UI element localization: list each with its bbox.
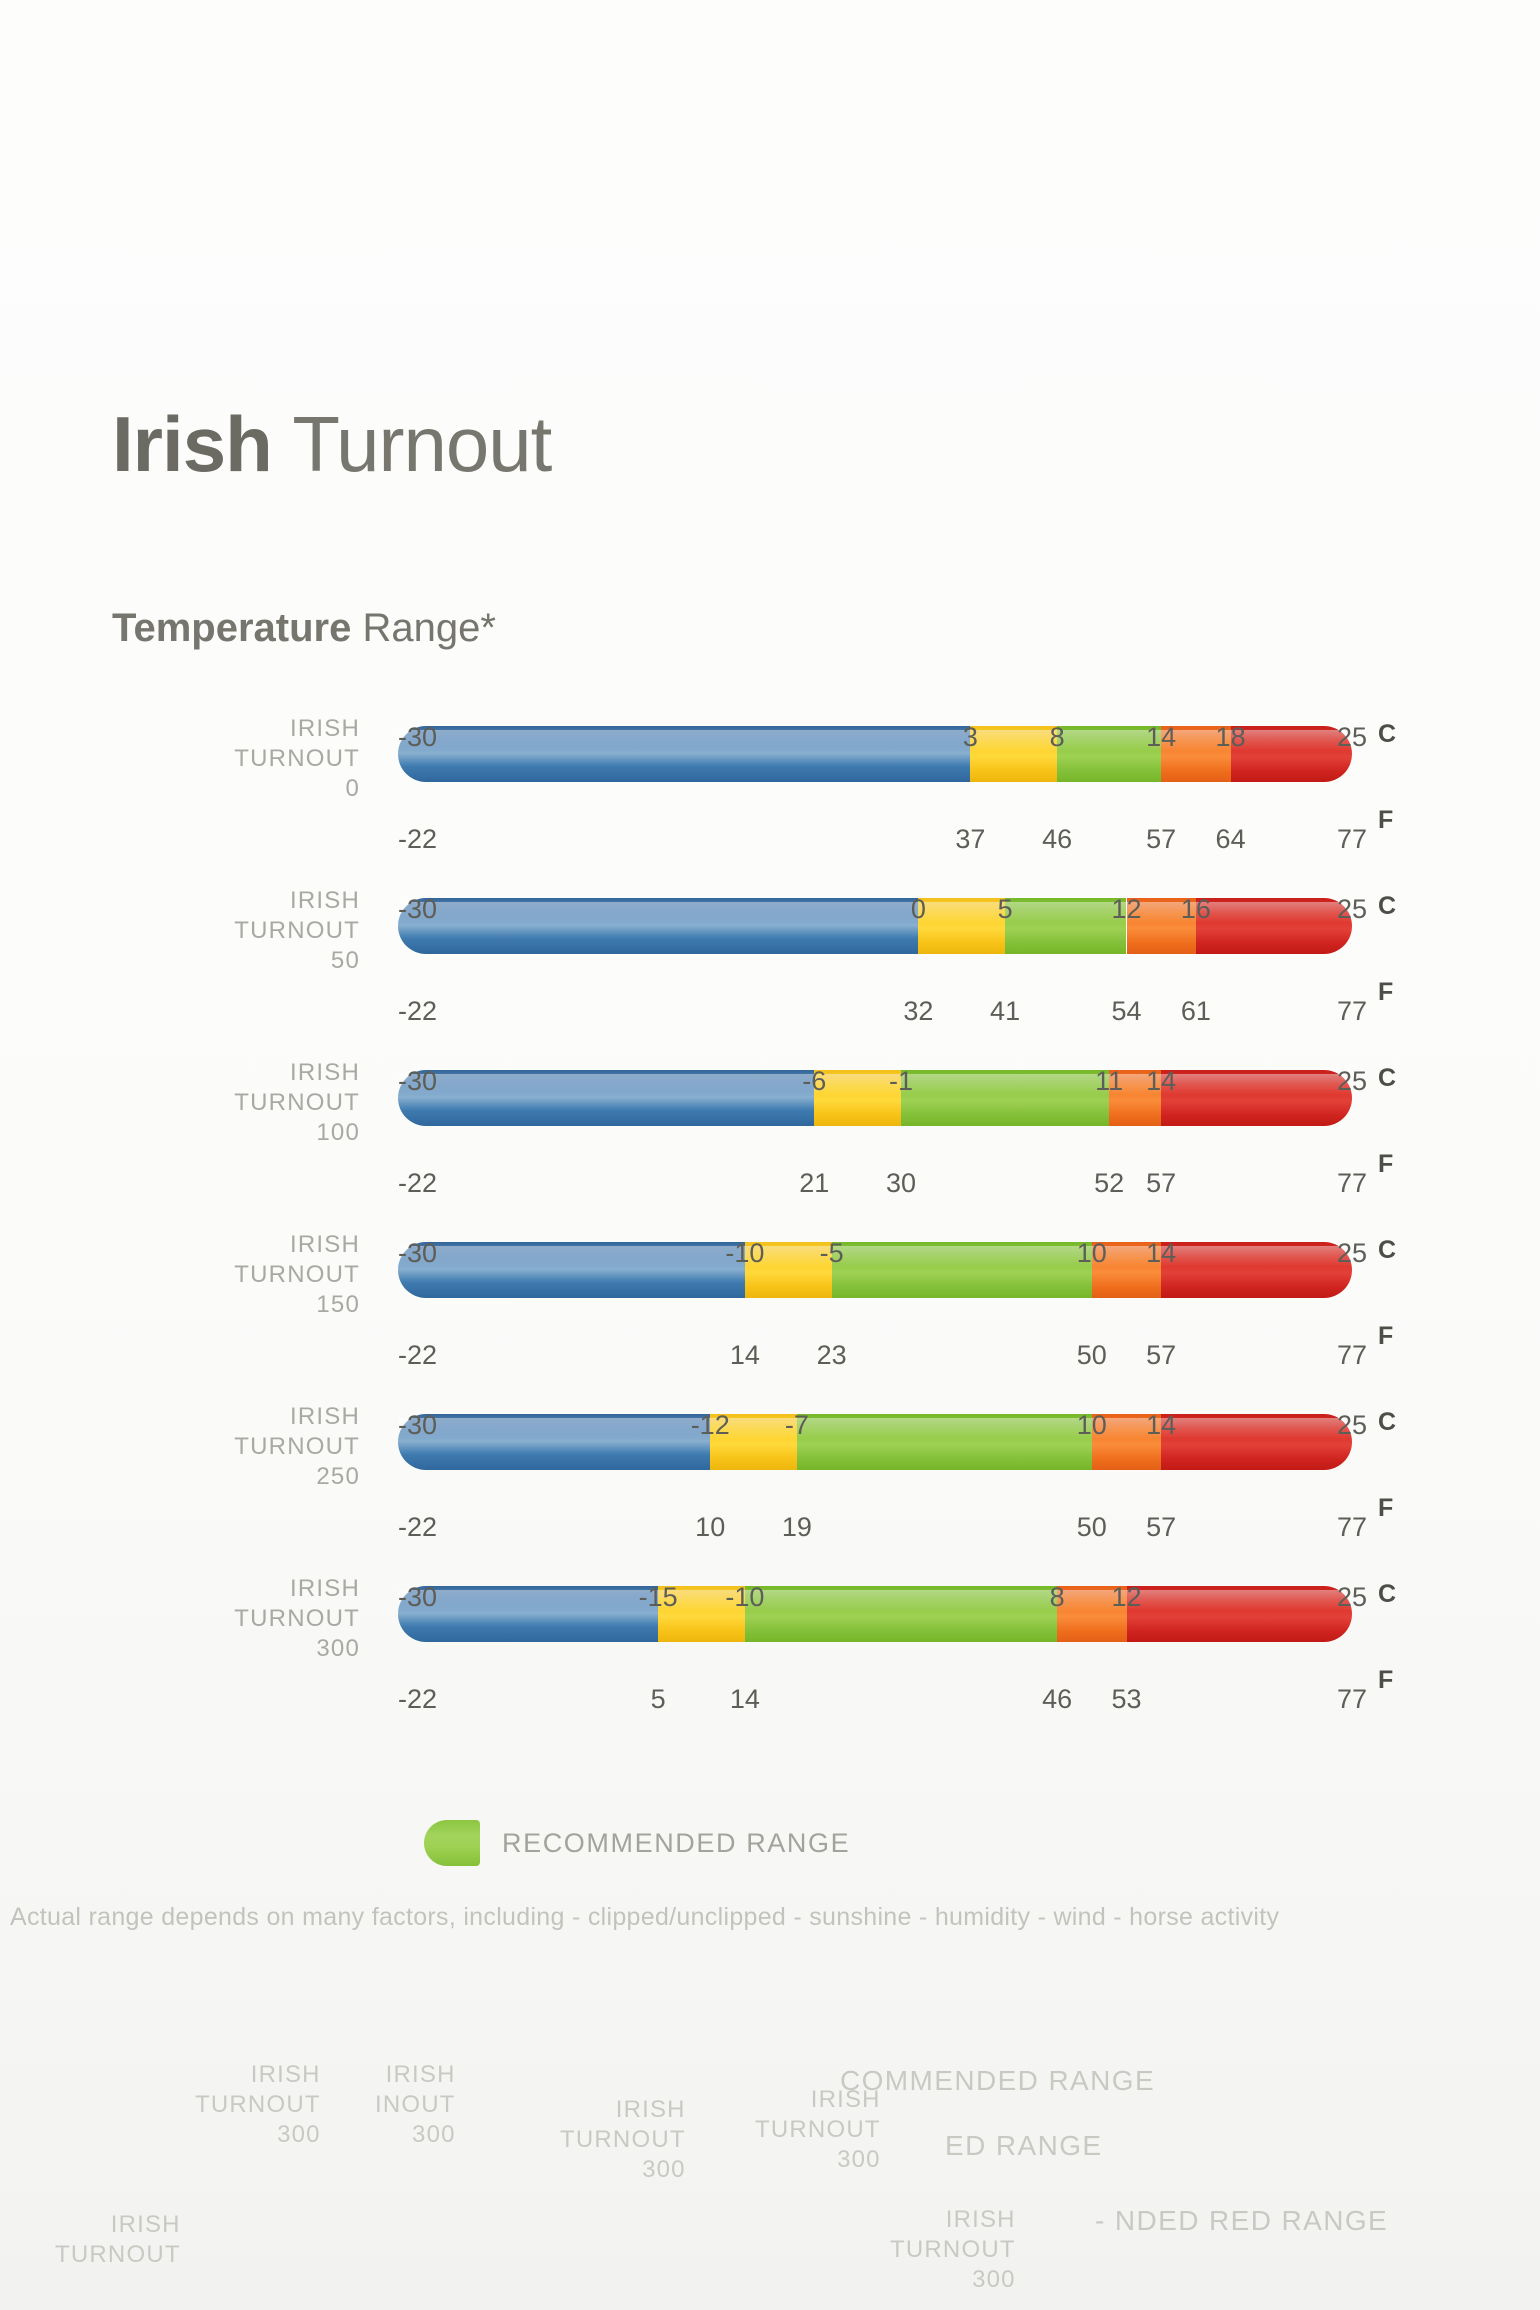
row-label-line: IRISH: [140, 1058, 360, 1088]
unit-marker-fahrenheit: F: [1378, 1666, 1393, 1695]
bar-segment-red: [1161, 1242, 1352, 1298]
recommended-range-swatch-icon: [424, 1820, 480, 1866]
ghost-product-line: TURNOUT: [890, 2235, 1016, 2265]
tick-fahrenheit: 53: [1111, 1684, 1141, 1715]
tick-fahrenheit: 77: [1337, 1340, 1367, 1371]
tick-fahrenheit: -22: [398, 1512, 437, 1543]
segment-highlight: [901, 1074, 1109, 1094]
bar-segment-red: [1196, 898, 1352, 954]
ghost-range-text: ED RANGE: [945, 2130, 1102, 2162]
temperature-bar-track: -30-10-5101425-221423505777: [398, 1242, 1352, 1298]
subtitle-bold-word: Temperature: [112, 606, 351, 650]
segment-highlight: [1005, 902, 1126, 922]
tick-celsius: 16: [1181, 894, 1211, 925]
segment-highlight: [918, 902, 1005, 922]
bar-segment-green: [745, 1586, 1057, 1642]
temperature-bar-track: -3005121625-223241546177: [398, 898, 1352, 954]
ghost-product-line: TURNOUT: [560, 2125, 686, 2155]
tick-celsius: 25: [1337, 1410, 1367, 1441]
segment-highlight: [1161, 1418, 1352, 1438]
row-label: IRISHTURNOUT100: [140, 1058, 360, 1148]
unit-marker-celsius: C: [1378, 1236, 1396, 1265]
tick-celsius: -12: [691, 1410, 730, 1441]
tick-fahrenheit: 32: [903, 996, 933, 1027]
row-label-line: 250: [140, 1462, 360, 1492]
ghost-range-text: - NDED RED RANGE: [1095, 2205, 1388, 2237]
tick-fahrenheit: 30: [886, 1168, 916, 1199]
segment-highlight: [1127, 1590, 1352, 1610]
bar-row: IRISHTURNOUT100-30-6-1111425-22213052577…: [0, 1034, 1540, 1206]
tick-fahrenheit: -22: [398, 824, 437, 855]
tick-celsius: 10: [1077, 1410, 1107, 1441]
tick-celsius: 18: [1216, 722, 1246, 753]
tick-celsius: 25: [1337, 894, 1367, 925]
tick-fahrenheit: 57: [1146, 1168, 1176, 1199]
page-title: Irish Turnout: [112, 405, 551, 483]
title-bold-word: Irish: [112, 400, 272, 488]
ghost-product-line: IRISH: [195, 2060, 321, 2090]
unit-marker-celsius: C: [1378, 892, 1396, 921]
bar-segment-blue: [398, 726, 970, 782]
row-label-line: TURNOUT: [140, 1260, 360, 1290]
tick-celsius: 10: [1077, 1238, 1107, 1269]
tick-fahrenheit: 10: [695, 1512, 725, 1543]
ghost-product-line: 300: [375, 2120, 456, 2150]
tick-fahrenheit: 54: [1111, 996, 1141, 1027]
tick-celsius: 25: [1337, 1238, 1367, 1269]
segment-highlight: [1231, 730, 1352, 750]
row-label: IRISHTURNOUT50: [140, 886, 360, 976]
bar-row: IRISHTURNOUT300-30-15-1081225-2251446537…: [0, 1550, 1540, 1722]
ghost-range-text: COMMENDED RANGE: [840, 2065, 1155, 2097]
tick-celsius: 14: [1146, 722, 1176, 753]
tick-celsius: -7: [785, 1410, 809, 1441]
segment-highlight: [398, 902, 918, 922]
ghost-product-line: IRISH: [375, 2060, 456, 2090]
bar-segment-yellow: [918, 898, 1005, 954]
ghost-product-mark: IRISHTURNOUT300: [890, 2205, 1016, 2295]
tick-celsius: -30: [398, 1066, 437, 1097]
title-light-word: Turnout: [292, 400, 551, 488]
row-label-line: 300: [140, 1634, 360, 1664]
tick-celsius: 3: [963, 722, 978, 753]
unit-marker-celsius: C: [1378, 1580, 1396, 1609]
bar-segment-green: [1005, 898, 1126, 954]
tick-celsius: -30: [398, 1582, 437, 1613]
tick-fahrenheit: 46: [1042, 1684, 1072, 1715]
row-label-line: 100: [140, 1118, 360, 1148]
temperature-range-chart: IRISHTURNOUT0-3038141825-223746576477CFI…: [0, 690, 1540, 1722]
row-label-line: IRISH: [140, 886, 360, 916]
tick-celsius: -10: [725, 1238, 764, 1269]
segment-highlight: [1196, 902, 1352, 922]
tick-fahrenheit: 50: [1077, 1512, 1107, 1543]
legend: RECOMMENDED RANGE: [424, 1820, 850, 1866]
ghost-product-line: 300: [755, 2145, 881, 2175]
bar-segment-blue: [398, 1070, 814, 1126]
bar-row: IRISHTURNOUT0-3038141825-223746576477CF: [0, 690, 1540, 862]
tick-fahrenheit: 5: [651, 1684, 666, 1715]
bar-row: IRISHTURNOUT150-30-10-5101425-2214235057…: [0, 1206, 1540, 1378]
tick-celsius: 11: [1095, 1066, 1123, 1097]
tick-fahrenheit: 41: [990, 996, 1020, 1027]
segment-highlight: [1161, 1074, 1352, 1094]
row-label-line: IRISH: [140, 1402, 360, 1432]
row-label-line: 0: [140, 774, 360, 804]
row-label-line: 150: [140, 1290, 360, 1320]
tick-celsius: 25: [1337, 722, 1367, 753]
tick-celsius: 5: [998, 894, 1013, 925]
temperature-bar-track: -30-6-1111425-222130525777: [398, 1070, 1352, 1126]
tick-fahrenheit: 61: [1181, 996, 1211, 1027]
ghost-product-line: 300: [195, 2120, 321, 2150]
ghost-product-line: TURNOUT: [195, 2090, 321, 2120]
ghost-product-line: 300: [560, 2155, 686, 2185]
tick-fahrenheit: 14: [730, 1684, 760, 1715]
segment-highlight: [814, 1074, 901, 1094]
segment-highlight: [970, 730, 1057, 750]
ghost-product-line: 300: [890, 2265, 1016, 2295]
segment-highlight: [745, 1590, 1057, 1610]
tick-fahrenheit: 77: [1337, 996, 1367, 1027]
tick-fahrenheit: -22: [398, 1340, 437, 1371]
segment-highlight: [398, 730, 970, 750]
tick-fahrenheit: -22: [398, 996, 437, 1027]
tick-fahrenheit: 77: [1337, 824, 1367, 855]
subtitle-light-word: Range*: [362, 606, 495, 650]
ghost-product-line: INOUT: [375, 2090, 456, 2120]
tick-celsius: -30: [398, 1238, 437, 1269]
tick-fahrenheit: 19: [782, 1512, 812, 1543]
row-label: IRISHTURNOUT250: [140, 1402, 360, 1492]
row-label-line: IRISH: [140, 1230, 360, 1260]
tick-fahrenheit: -22: [398, 1684, 437, 1715]
tick-fahrenheit: 57: [1146, 824, 1176, 855]
tick-celsius: 8: [1050, 1582, 1065, 1613]
tick-celsius: 25: [1337, 1066, 1367, 1097]
tick-celsius: 14: [1146, 1066, 1176, 1097]
segment-highlight: [832, 1246, 1092, 1266]
tick-fahrenheit: 37: [955, 824, 985, 855]
bar-row: IRISHTURNOUT50-3005121625-223241546177CF: [0, 862, 1540, 1034]
ghost-product-mark: IRISHTURNOUT300: [755, 2085, 881, 2175]
page-subtitle: Temperature Range*: [112, 608, 496, 648]
tick-fahrenheit: 57: [1146, 1512, 1176, 1543]
tick-celsius: 12: [1111, 1582, 1141, 1613]
segment-highlight: [1161, 1246, 1352, 1266]
bar-segment-blue: [398, 1242, 745, 1298]
row-label-line: IRISH: [140, 714, 360, 744]
unit-marker-celsius: C: [1378, 720, 1396, 749]
title-block: Irish Turnout: [112, 405, 551, 483]
tick-fahrenheit: 64: [1216, 824, 1246, 855]
row-label-line: TURNOUT: [140, 1088, 360, 1118]
row-label-line: TURNOUT: [140, 744, 360, 774]
row-label-line: 50: [140, 946, 360, 976]
bar-segment-yellow: [970, 726, 1057, 782]
tick-fahrenheit: 46: [1042, 824, 1072, 855]
bar-segment-red: [1161, 1070, 1352, 1126]
unit-marker-fahrenheit: F: [1378, 1150, 1393, 1179]
bar-segment-red: [1127, 1586, 1352, 1642]
row-label-line: TURNOUT: [140, 916, 360, 946]
ghost-product-line: IRISH: [560, 2095, 686, 2125]
ghost-product-mark: IRISHTURNOUT: [55, 2210, 181, 2270]
unit-marker-fahrenheit: F: [1378, 1322, 1393, 1351]
tick-celsius: -1: [889, 1066, 913, 1097]
ghost-product-mark: IRISHINOUT300: [375, 2060, 456, 2150]
ghost-product-line: IRISH: [55, 2210, 181, 2240]
temperature-bar-track: -30-15-1081225-22514465377: [398, 1586, 1352, 1642]
row-label-line: IRISH: [140, 1574, 360, 1604]
tick-fahrenheit: 50: [1077, 1340, 1107, 1371]
bar-segment-green: [901, 1070, 1109, 1126]
tick-celsius: 12: [1111, 894, 1141, 925]
tick-fahrenheit: -22: [398, 1168, 437, 1199]
row-label: IRISHTURNOUT300: [140, 1574, 360, 1664]
unit-marker-celsius: C: [1378, 1408, 1396, 1437]
ghost-product-line: IRISH: [890, 2205, 1016, 2235]
row-label: IRISHTURNOUT0: [140, 714, 360, 804]
unit-marker-fahrenheit: F: [1378, 978, 1393, 1007]
tick-fahrenheit: 77: [1337, 1512, 1367, 1543]
tick-celsius: 14: [1146, 1410, 1176, 1441]
ghost-product-line: TURNOUT: [755, 2115, 881, 2145]
bar-segment-red: [1231, 726, 1352, 782]
row-label: IRISHTURNOUT150: [140, 1230, 360, 1320]
unit-marker-fahrenheit: F: [1378, 806, 1393, 835]
unit-marker-celsius: C: [1378, 1064, 1396, 1093]
tick-celsius: -30: [398, 722, 437, 753]
bar-segment-blue: [398, 1414, 710, 1470]
tick-fahrenheit: 52: [1094, 1168, 1124, 1199]
row-label-line: TURNOUT: [140, 1432, 360, 1462]
segment-highlight: [398, 1418, 710, 1438]
tick-celsius: -6: [802, 1066, 826, 1097]
temperature-bar-track: -30-12-7101425-221019505777: [398, 1414, 1352, 1470]
temperature-bar-track: -3038141825-223746576477: [398, 726, 1352, 782]
tick-celsius: 25: [1337, 1582, 1367, 1613]
bar-segment-green: [797, 1414, 1092, 1470]
legend-label: RECOMMENDED RANGE: [502, 1828, 850, 1859]
segment-highlight: [398, 1074, 814, 1094]
bar-segment-red: [1161, 1414, 1352, 1470]
tick-fahrenheit: 77: [1337, 1168, 1367, 1199]
tick-celsius: -30: [398, 894, 437, 925]
ghost-product-line: TURNOUT: [55, 2240, 181, 2270]
tick-celsius: -10: [725, 1582, 764, 1613]
tick-fahrenheit: 23: [817, 1340, 847, 1371]
bar-segment-green: [832, 1242, 1092, 1298]
tick-fahrenheit: 21: [799, 1168, 829, 1199]
tick-fahrenheit: 57: [1146, 1340, 1176, 1371]
tick-celsius: -30: [398, 1410, 437, 1441]
ghost-product-mark: IRISHTURNOUT300: [195, 2060, 321, 2150]
tick-celsius: -5: [820, 1238, 844, 1269]
ghost-product-mark: IRISHTURNOUT300: [560, 2095, 686, 2185]
segment-highlight: [398, 1246, 745, 1266]
tick-celsius: 0: [911, 894, 926, 925]
tick-fahrenheit: 77: [1337, 1684, 1367, 1715]
tick-celsius: 14: [1146, 1238, 1176, 1269]
segment-highlight: [797, 1418, 1092, 1438]
bar-segment-blue: [398, 898, 918, 954]
bar-segment-yellow: [814, 1070, 901, 1126]
footnote-text: Actual range depends on many factors, in…: [10, 1903, 1540, 1932]
bar-row: IRISHTURNOUT250-30-12-7101425-2210195057…: [0, 1378, 1540, 1550]
tick-celsius: 8: [1050, 722, 1065, 753]
row-label-line: TURNOUT: [140, 1604, 360, 1634]
unit-marker-fahrenheit: F: [1378, 1494, 1393, 1523]
tick-celsius: -15: [639, 1582, 678, 1613]
tick-fahrenheit: 14: [730, 1340, 760, 1371]
